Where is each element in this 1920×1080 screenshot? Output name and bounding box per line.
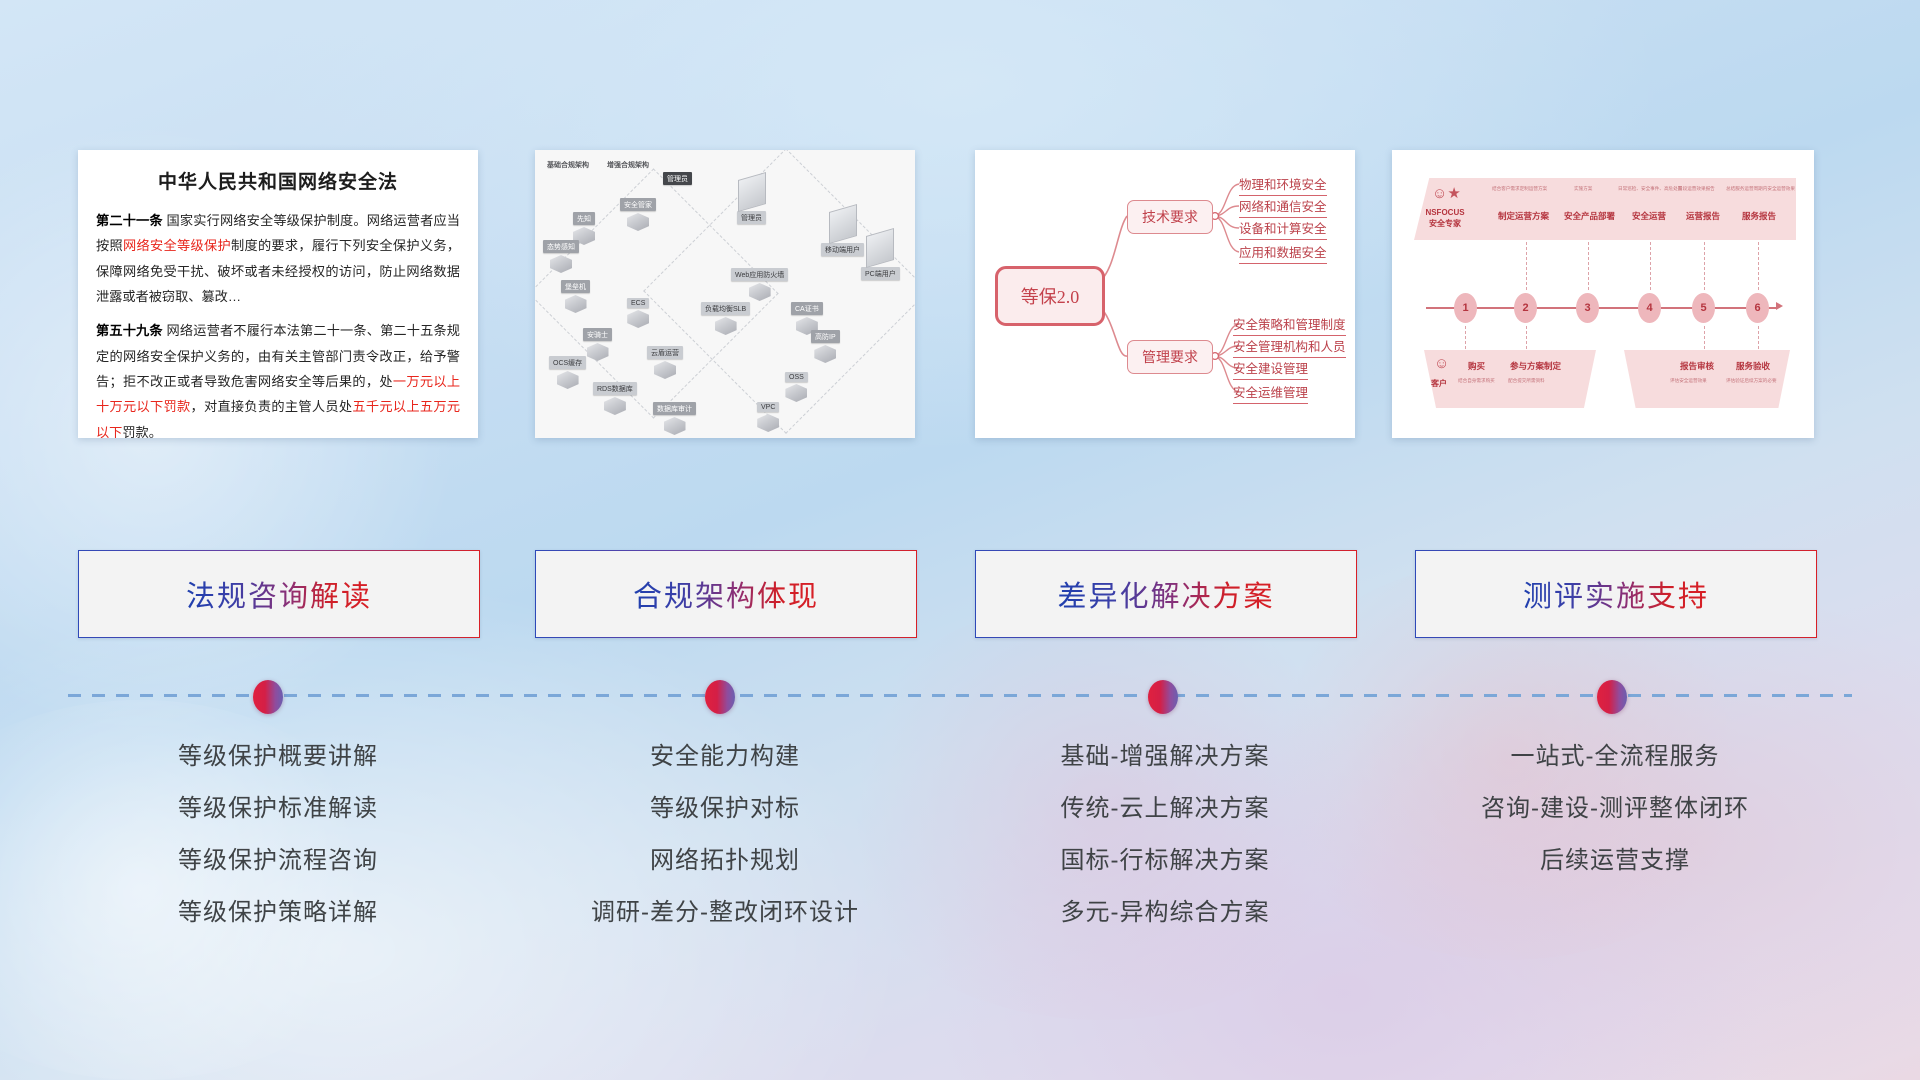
timeline-step-dot[interactable]: 1 [1454,293,1477,323]
mindmap-leaf: 安全策略和管理制度 [1233,314,1346,336]
arch-node-oss: OSS [785,372,808,402]
step-title: 运营报告 [1686,210,1720,222]
list-item: 多元-异构综合方案 [975,901,1355,925]
timeline-marker[interactable] [705,680,735,714]
law-title: 中华人民共和国网络安全法 [78,167,478,194]
arch-node-pc-user: PC端用户 [861,232,900,280]
list-item: 基础-增强解决方案 [975,745,1355,769]
list-item: 等级保护概要讲解 [78,745,478,769]
mindmap-branch-management[interactable]: 管理要求 [1127,340,1213,374]
list-item: 等级保护标准解读 [78,797,478,821]
connector-dash [1704,326,1706,354]
step-subtitle: 结合客户需求定制运营方案 [1492,186,1547,192]
section-header-label: 合规架构体现 [633,573,819,615]
expert-role-label: NSFOCUS安全专家 [1414,208,1476,230]
feature-column-architecture: 安全能力构建 等级保护对标 网络拓扑规划 调研-差分-整改闭环设计 [535,745,915,953]
mindmap-leaf: 物理和环境安全 [1239,174,1327,196]
section-header-label: 法规咨询解读 [186,573,372,615]
step-subtitle: 日常巡检、安全事件、高危处置 [1618,186,1682,192]
arch-node-vpc: VPC [757,402,779,432]
step-subtitle: 评估验证后续方案的必要 [1726,378,1777,384]
arch-node-yundun-ops: 云盾运营 [647,346,683,379]
connector-dash [1650,242,1652,290]
connector-dash [1465,326,1467,354]
list-item: 后续运营支撑 [1415,849,1815,873]
nsfocus-timeline-diagram: ☺★ NSFOCUS安全专家 结合客户需求定制运营方案 制定运营方案 实施方案 … [1392,150,1814,438]
feature-column-solution: 基础-增强解决方案 传统-云上解决方案 国标-行标解决方案 多元-异构综合方案 [975,745,1355,953]
timeline-dashed-line [68,694,1852,697]
step-subtitle: 配合提交所需资料 [1508,378,1545,384]
section-header-label: 差异化解决方案 [1057,573,1274,615]
step-subtitle: 实施方案 [1574,186,1592,192]
list-item: 国标-行标解决方案 [975,849,1355,873]
mindmap-leaf: 应用和数据安全 [1239,242,1327,264]
architecture-diagram: 基础合规架构 增强合规架构 管理员 管理员 安全管家 先知 态势感知 堡垒机 [535,150,915,438]
list-item: 咨询-建设-测评整体闭环 [1415,797,1815,821]
mindmap-leaf: 安全运维管理 [1233,382,1308,404]
arch-node-slb: 负载均衡SLB [701,302,750,335]
timeline-arrow-icon [1776,302,1783,310]
feature-list-row: 等级保护概要讲解 等级保护标准解读 等级保护流程咨询 等级保护策略详解 安全能力… [0,745,1920,995]
arch-node-anti-ddos-ip: 高防IP [811,330,840,363]
section-header-differentiated-solution[interactable]: 差异化解决方案 [975,550,1357,638]
connector-dash [1526,326,1528,354]
timeline-marker[interactable] [253,680,283,714]
arch-tab-enhanced: 增强合规架构 [607,160,649,170]
arch-node-waf: Web应用防火墙 [731,268,788,301]
arch-node-rds-database: RDS数据库 [593,382,637,415]
section-header-row: 法规咨询解读 合规架构体现 差异化解决方案 测评实施支持 [0,550,1920,640]
connector-dash [1704,242,1706,290]
timeline-marker[interactable] [1148,680,1178,714]
mindmap-root-node[interactable]: 等保2.0 [995,266,1105,326]
image-card-row: 中华人民共和国网络安全法 第二十一条 国家实行网络安全等级保护制度。网络运营者应… [0,150,1920,440]
step-title: 安全产品部署 [1564,210,1615,222]
step-title: 服务报告 [1742,210,1776,222]
connector-dash [1588,242,1590,290]
arch-node-admin: 管理员 [663,172,692,185]
step-title: 报告审核 [1680,360,1714,372]
feature-column-assessment: 一站式-全流程服务 咨询-建设-测评整体闭环 后续运营支撑 [1415,745,1815,901]
timeline-step-dot[interactable]: 2 [1514,293,1537,323]
customer-avatar-icon: ☺ [1434,356,1449,371]
step-title: 安全运营 [1632,210,1666,222]
mindmap-leaf: 安全建设管理 [1233,358,1308,380]
connector-dash [1526,242,1528,290]
step-subtitle: 结合自身需求购买 [1458,378,1495,384]
feature-column-regulation: 等级保护概要讲解 等级保护标准解读 等级保护流程咨询 等级保护策略详解 [78,745,478,953]
law-paragraph-21: 第二十一条 国家实行网络安全等级保护制度。网络运营者应当按照网络安全等级保护制度… [96,208,460,309]
customer-role-label: 客户 [1424,378,1454,389]
card-compliance-architecture[interactable]: 基础合规架构 增强合规架构 管理员 管理员 安全管家 先知 态势感知 堡垒机 [535,150,915,438]
arch-node-manager-pane: 管理员 [737,176,766,224]
mindmap-leaf: 安全管理机构和人员 [1233,336,1346,358]
list-item: 网络拓扑规划 [535,849,915,873]
step-title: 制定运营方案 [1498,210,1549,222]
arch-node-bastion-host: 堡垒机 [561,280,590,313]
law-text: ，对直接负责的主管人员处 [190,399,352,414]
mindmap-leaf: 网络和通信安全 [1239,196,1327,218]
card-nsfocus-service-timeline[interactable]: ☺★ NSFOCUS安全专家 结合客户需求定制运营方案 制定运营方案 实施方案 … [1392,150,1814,438]
step-title: 服务验收 [1736,360,1770,372]
arch-node-ocs-cache: OCS缓存 [549,356,586,389]
step-subtitle: 评估安全运营效果 [1670,378,1707,384]
step-title: 参与方案制定 [1510,360,1561,372]
list-item: 等级保护策略详解 [78,901,478,925]
timeline-marker[interactable] [1597,680,1627,714]
list-item: 等级保护对标 [535,797,915,821]
list-item: 一站式-全流程服务 [1415,745,1815,769]
law-text: 罚款。 [122,425,162,438]
section-header-label: 测评实施支持 [1523,573,1709,615]
expert-avatar-icon: ☺★ [1432,186,1461,201]
arch-node-situation-awareness: 态势感知 [543,240,579,273]
list-item: 安全能力构建 [535,745,915,769]
list-item: 调研-差分-整改闭环设计 [535,901,915,925]
section-header-regulation-consulting[interactable]: 法规咨询解读 [78,550,480,638]
law-article-number: 第五十九条 [96,323,163,338]
arch-node-ecs: ECS [627,298,649,328]
step-subtitle: 阶段运营效果报告 [1678,186,1715,192]
step-subtitle: 总结服务运营周期内安全运营效果 [1726,186,1795,192]
timeline-axis [1426,307,1776,309]
connector-dash [1758,326,1760,354]
arch-node-anqishi: 安骑士 [583,328,612,361]
law-paragraph-59: 第五十九条 网络运营者不履行本法第二十一条、第二十五条规定的网络安全保护义务的，… [96,318,460,438]
section-header-assessment-support[interactable]: 测评实施支持 [1415,550,1817,638]
timeline-step-dot[interactable]: 6 [1746,293,1769,323]
law-text-highlight: 网络安全等级保护 [123,238,231,253]
arch-node-mobile-user: 移动端用户 [821,208,864,256]
mindmap-branch-technical[interactable]: 技术要求 [1127,200,1213,234]
arch-tab-basic: 基础合规架构 [547,160,589,170]
law-article-number: 第二十一条 [96,213,163,228]
timeline-step-dot[interactable]: 5 [1692,293,1715,323]
mindmap-leaf: 设备和计算安全 [1239,218,1327,240]
arch-node-db-audit: 数据库审计 [653,402,696,435]
timeline-step-dot[interactable]: 4 [1638,293,1661,323]
mindmap-diagram: 等保2.0 技术要求 管理要求 物理和环境安全 网络和通信安全 设备和计算安全 … [975,150,1355,438]
list-item: 等级保护流程咨询 [78,849,478,873]
section-header-compliance-architecture[interactable]: 合规架构体现 [535,550,917,638]
step-title: 购买 [1468,360,1485,372]
card-dengbao-mindmap[interactable]: 等保2.0 技术要求 管理要求 物理和环境安全 网络和通信安全 设备和计算安全 … [975,150,1355,438]
arch-node-security-butler: 安全管家 [620,198,656,231]
connector-dash [1758,242,1760,290]
timeline-step-dot[interactable]: 3 [1576,293,1599,323]
card-cybersecurity-law[interactable]: 中华人民共和国网络安全法 第二十一条 国家实行网络安全等级保护制度。网络运营者应… [78,150,478,438]
list-item: 传统-云上解决方案 [975,797,1355,821]
